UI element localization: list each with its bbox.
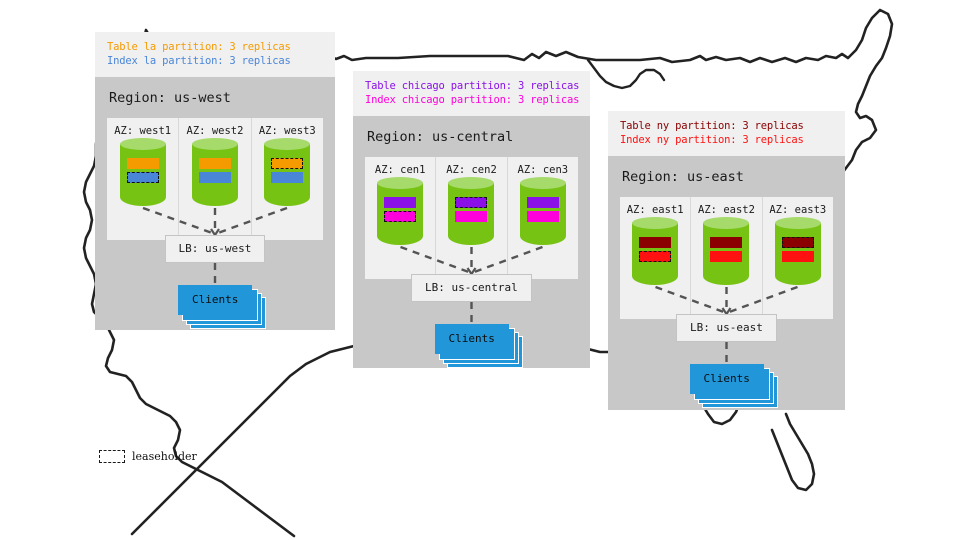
clients-box[interactable]: Clients xyxy=(690,364,764,394)
az-cell-cen2: AZ: cen2 xyxy=(435,157,506,279)
load-balancer-us-central[interactable]: LB: us-central xyxy=(411,274,532,302)
replica-bars xyxy=(775,223,821,265)
table-replica-leaseholder xyxy=(455,197,487,208)
great-lakes-path xyxy=(588,60,664,88)
leaseholder-legend-label: leaseholder xyxy=(132,450,197,463)
index-replica-leaseholder xyxy=(384,211,416,222)
az-row: AZ: cen1AZ: cen2AZ: cen3 xyxy=(365,157,578,279)
partition-label-table: Table la partition: 3 replicas xyxy=(107,40,323,54)
cylinder-top-ellipse xyxy=(775,217,821,229)
table-replica xyxy=(527,197,559,208)
clients-stack-us-west[interactable]: Clients xyxy=(178,285,252,315)
az-label: AZ: west1 xyxy=(114,125,171,137)
region-title: Region: us-central xyxy=(353,116,590,157)
cylinder-body xyxy=(120,144,166,206)
table-replica-leaseholder xyxy=(271,158,303,169)
az-label: AZ: cen2 xyxy=(446,164,497,176)
az-cell-cen1: AZ: cen1 xyxy=(365,157,435,279)
replica-bars xyxy=(377,183,423,225)
az-cell-cen3: AZ: cen3 xyxy=(507,157,578,279)
cylinder-body xyxy=(377,183,423,245)
load-balancer-us-east[interactable]: LB: us-east xyxy=(676,314,777,342)
index-replica xyxy=(455,211,487,222)
table-replica-leaseholder xyxy=(782,237,814,248)
clients-stack-us-east[interactable]: Clients xyxy=(690,364,764,394)
partition-legend-us-west: Table la partition: 3 replicas Index la … xyxy=(95,32,335,77)
cylinder-body xyxy=(520,183,566,245)
az-label: AZ: west2 xyxy=(187,125,244,137)
clients-box[interactable]: Clients xyxy=(435,324,509,354)
az-label: AZ: east1 xyxy=(627,204,684,216)
az-cell-east2: AZ: east2 xyxy=(690,197,761,319)
az-row: AZ: east1AZ: east2AZ: east3 xyxy=(620,197,833,319)
replica-bars xyxy=(120,144,166,186)
replica-bars xyxy=(448,183,494,225)
database-cylinder xyxy=(520,183,566,245)
cylinder-body xyxy=(775,223,821,285)
replica-bars xyxy=(264,144,310,186)
cylinder-body xyxy=(632,223,678,285)
database-cylinder xyxy=(775,223,821,285)
database-cylinder xyxy=(377,183,423,245)
dashed-rect-icon xyxy=(99,450,125,463)
clients-box[interactable]: Clients xyxy=(178,285,252,315)
replica-bars xyxy=(192,144,238,186)
az-label: AZ: east2 xyxy=(698,204,755,216)
index-replica xyxy=(782,251,814,262)
index-replica xyxy=(271,172,303,183)
cylinder-body xyxy=(192,144,238,206)
database-cylinder xyxy=(192,144,238,206)
database-cylinder xyxy=(448,183,494,245)
region-title: Region: us-west xyxy=(95,77,335,118)
region-title: Region: us-east xyxy=(608,156,845,197)
az-cell-west2: AZ: west2 xyxy=(178,118,250,240)
partition-legend-us-central: Table chicago partition: 3 replicas Inde… xyxy=(353,71,590,116)
az-label: AZ: cen3 xyxy=(518,164,569,176)
az-row: AZ: west1AZ: west2AZ: west3 xyxy=(107,118,323,240)
cylinder-top-ellipse xyxy=(377,177,423,189)
partition-legend-us-east: Table ny partition: 3 replicas Index ny … xyxy=(608,111,845,156)
partition-label-index: Index ny partition: 3 replicas xyxy=(620,133,833,147)
partition-label-table: Table chicago partition: 3 replicas xyxy=(365,79,578,93)
index-replica xyxy=(710,251,742,262)
partition-label-index: Index chicago partition: 3 replicas xyxy=(365,93,578,107)
table-replica xyxy=(384,197,416,208)
table-replica xyxy=(710,237,742,248)
index-replica xyxy=(199,172,231,183)
az-cell-west3: AZ: west3 xyxy=(251,118,323,240)
az-cell-east3: AZ: east3 xyxy=(762,197,833,319)
florida-peninsula-path xyxy=(772,414,814,490)
partition-label-index: Index la partition: 3 replicas xyxy=(107,54,323,68)
az-label: AZ: cen1 xyxy=(375,164,426,176)
cylinder-body xyxy=(703,223,749,285)
partition-label-table: Table ny partition: 3 replicas xyxy=(620,119,833,133)
cylinder-top-ellipse xyxy=(632,217,678,229)
cylinder-top-ellipse xyxy=(264,138,310,150)
table-replica xyxy=(127,158,159,169)
index-replica-leaseholder xyxy=(639,251,671,262)
database-cylinder xyxy=(632,223,678,285)
replica-bars xyxy=(632,223,678,265)
database-cylinder xyxy=(264,144,310,206)
leaseholder-legend: leaseholder xyxy=(99,450,197,463)
index-replica-leaseholder xyxy=(127,172,159,183)
table-replica xyxy=(639,237,671,248)
az-cell-west1: AZ: west1 xyxy=(107,118,178,240)
database-cylinder xyxy=(703,223,749,285)
index-replica xyxy=(527,211,559,222)
clients-stack-us-central[interactable]: Clients xyxy=(435,324,509,354)
az-label: AZ: west3 xyxy=(259,125,316,137)
cylinder-body xyxy=(264,144,310,206)
replica-bars xyxy=(703,223,749,265)
cylinder-top-ellipse xyxy=(192,138,238,150)
load-balancer-us-west[interactable]: LB: us-west xyxy=(165,235,266,263)
replica-bars xyxy=(520,183,566,225)
cylinder-top-ellipse xyxy=(520,177,566,189)
database-cylinder xyxy=(120,144,166,206)
cylinder-top-ellipse xyxy=(120,138,166,150)
az-cell-east1: AZ: east1 xyxy=(620,197,690,319)
cylinder-body xyxy=(448,183,494,245)
table-replica xyxy=(199,158,231,169)
az-label: AZ: east3 xyxy=(769,204,826,216)
diagram-canvas: Table la partition: 3 replicas Index la … xyxy=(0,0,960,540)
